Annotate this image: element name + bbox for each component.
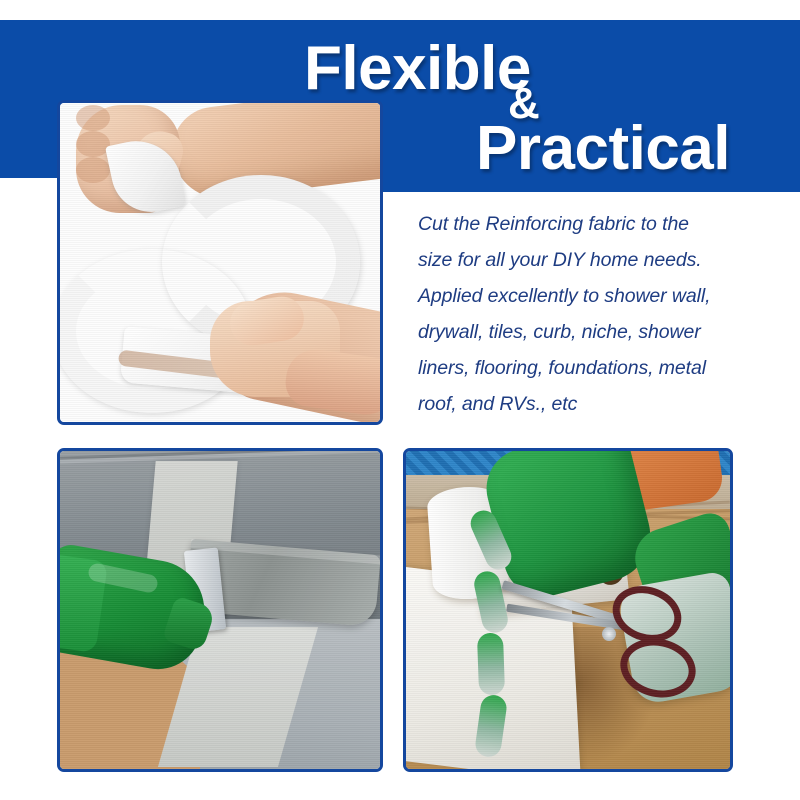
scissors-pivot <box>602 627 616 641</box>
glove-finger <box>477 633 505 696</box>
knuckle <box>76 157 110 183</box>
product-marketing-image: Flexible & Practical Cut the Reinforcing… <box>0 0 800 800</box>
description-line: liners, flooring, foundations, metal <box>418 350 750 386</box>
knuckle <box>76 105 110 131</box>
description-line: roof, and RVs., etc <box>418 386 750 422</box>
scene-flex-demo <box>60 103 380 422</box>
scene-cutting-roll <box>406 451 730 769</box>
glove-fingers-group <box>478 509 574 597</box>
description-line: drywall, tiles, curb, niche, shower <box>418 314 750 350</box>
description-paragraph: Cut the Reinforcing fabric to the size f… <box>418 206 750 422</box>
scene-mortar-application <box>60 451 380 769</box>
description-line: size for all your DIY home needs. <box>418 242 750 278</box>
photo-flex-demo <box>57 100 383 425</box>
banner-notch <box>0 178 58 194</box>
photo-cutting-roll <box>403 448 733 772</box>
description-line: Cut the Reinforcing fabric to the <box>418 206 750 242</box>
photo-mortar-application <box>57 448 383 772</box>
knuckle <box>76 131 110 157</box>
description-line: Applied excellently to shower wall, <box>418 278 750 314</box>
